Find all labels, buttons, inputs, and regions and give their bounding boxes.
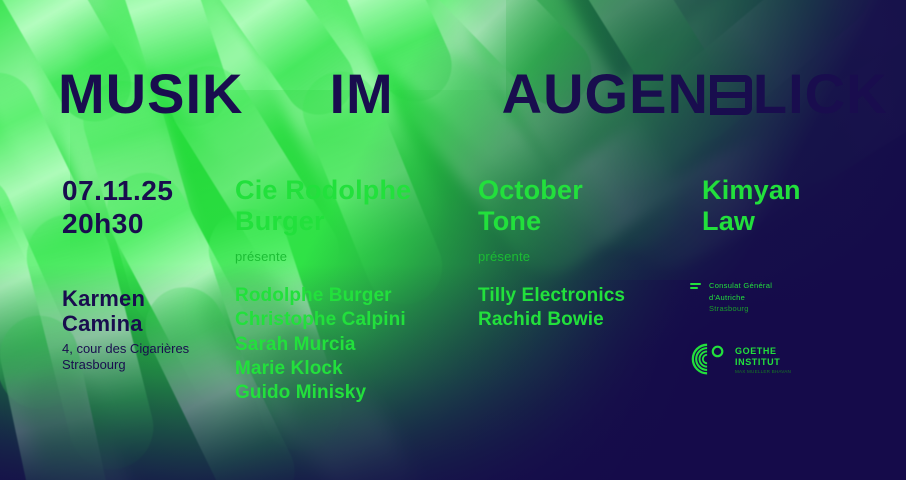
venue-address: 4, cour des Cigarières Strasbourg [62,341,189,374]
list-item: Sarah Murcia [235,333,411,357]
venue-name: Karmen Camina [62,286,189,336]
venue-name-line2: Camina [62,311,189,336]
consulate-line2: d'Autriche [709,292,772,304]
headline-augen-prefix: AUGEN [502,66,709,122]
two-bars-icon [690,283,701,291]
event-time: 20h30 [62,207,189,240]
consulate-logo: Consulat Général d'Autriche Strasbourg [690,280,791,315]
act-column-3: Kimyan Law [702,175,801,237]
act-title-line2: Burger [235,206,411,237]
act-performer-list: Rodolphe Burger Christophe Calpini Sarah… [235,284,411,406]
poster-canvas: MUSIK IM AUGEN LICK 07.11.25 20h30 Karme… [0,0,906,480]
act-title-line2: Tone [478,206,625,237]
act-title-line1: Kimyan [702,175,801,206]
goethe-institut-logo: GOETHE INSTITUT MAX MUELLER BHAVAN [690,341,791,379]
venue-street: 4, cour des Cigarières [62,341,189,357]
act-title-line2: Law [702,206,801,237]
act-title: October Tone [478,175,625,237]
consulate-line3: Strasbourg [709,303,772,315]
date-venue-column: 07.11.25 20h30 Karmen Camina 4, cour des… [62,174,189,374]
stylized-b-glyph [710,75,752,115]
headline-augen-suffix: LICK [753,66,888,122]
sponsor-logos: Consulat Général d'Autriche Strasbourg G… [690,280,791,379]
act-title: Kimyan Law [702,175,801,237]
event-datetime: 07.11.25 20h30 [62,174,189,240]
headline-word-musik: MUSIK [58,66,243,122]
poster-headline: MUSIK IM AUGEN LICK [58,66,858,122]
venue-name-line1: Karmen [62,286,189,311]
list-item: Rachid Bowie [478,308,625,332]
list-item: Guido Minisky [235,381,411,405]
act-title-line1: Cie Rodolphe [235,175,411,206]
headline-word-im: IM [329,66,393,122]
goethe-spiral-icon [690,341,728,379]
goethe-line1: GOETHE [735,346,791,357]
act-title: Cie Rodolphe Burger [235,175,411,237]
goethe-wordmark: GOETHE INSTITUT [735,346,791,369]
goethe-logo-text: GOETHE INSTITUT MAX MUELLER BHAVAN [735,346,791,375]
event-date: 07.11.25 [62,174,189,207]
consulate-line1: Consulat Général [709,280,772,292]
goethe-subtitle: MAX MUELLER BHAVAN [735,369,791,374]
presents-label: présente [235,249,411,264]
headline-word-augenblick: AUGEN LICK [502,66,888,122]
venue-city: Strasbourg [62,357,189,373]
list-item: Marie Klock [235,357,411,381]
act-performer-list: Tilly Electronics Rachid Bowie [478,284,625,333]
list-item: Christophe Calpini [235,308,411,332]
act-column-1: Cie Rodolphe Burger présente Rodolphe Bu… [235,175,411,406]
act-column-2: October Tone présente Tilly Electronics … [478,175,625,333]
list-item: Tilly Electronics [478,284,625,308]
consulate-logo-text: Consulat Général d'Autriche Strasbourg [709,280,772,315]
presents-label: présente [478,249,625,264]
act-title-line1: October [478,175,625,206]
goethe-line2: INSTITUT [735,357,791,368]
list-item: Rodolphe Burger [235,284,411,308]
